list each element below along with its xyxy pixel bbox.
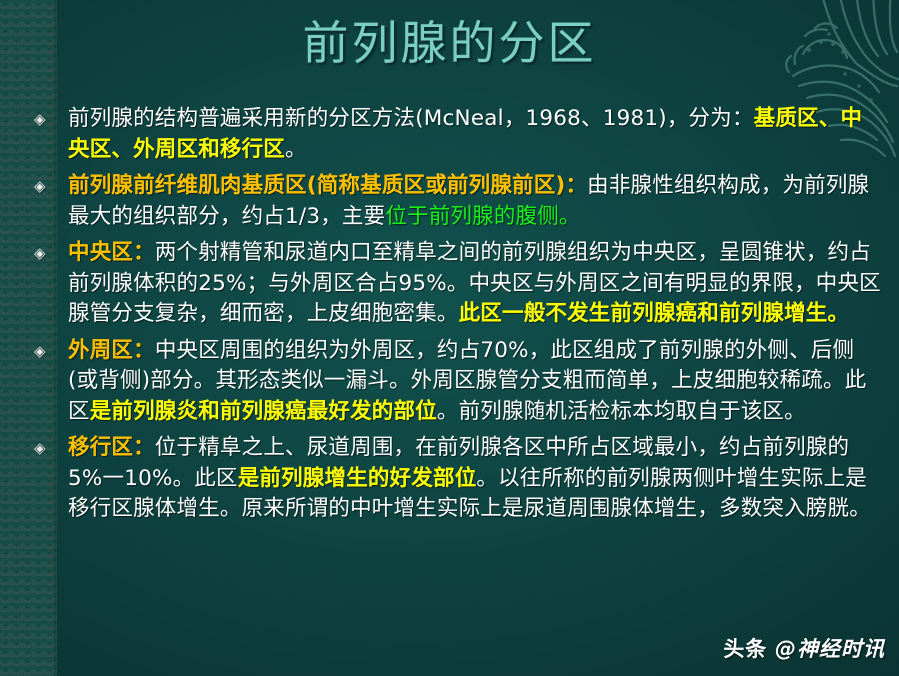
watermark-brand: 头条 — [723, 637, 767, 661]
bullet-diamond-icon: ◈ — [30, 171, 68, 203]
bullet-list: ◈ 前列腺的结构普遍采用新的分区方法(McNeal，1968、1981)，分为：… — [30, 104, 882, 531]
text-segment: 。前列腺随机活检标本均取自于该区。 — [437, 399, 806, 424]
text-segment-heading: 外周区： — [68, 338, 155, 363]
list-item: ◈ 前列腺的结构普遍采用新的分区方法(McNeal，1968、1981)，分为：… — [30, 104, 882, 165]
list-item: ◈ 中央区：两个射精管和尿道内口至精阜之间的前列腺组织为中央区，呈圆锥状，约占前… — [30, 238, 882, 330]
text-segment-highlight: 位于前列腺的腹侧。 — [385, 204, 580, 229]
slide-canvas: 前列腺的分区 ◈ 前列腺的结构普遍采用新的分区方法(McNeal，1968、19… — [0, 0, 899, 676]
bullet-diamond-icon: ◈ — [30, 238, 68, 270]
text-segment: 。 — [285, 137, 307, 162]
list-item: ◈ 前列腺前纤维肌肉基质区(简称基质区或前列腺前区)：由非腺性组织构成，为前列腺… — [30, 171, 882, 232]
bullet-text: 前列腺的结构普遍采用新的分区方法(McNeal，1968、1981)，分为：基质… — [68, 104, 882, 165]
page-title: 前列腺的分区 — [0, 16, 899, 70]
bullet-diamond-icon: ◈ — [30, 433, 68, 465]
text-segment-highlight: 是前列腺增生的好发部位 — [238, 466, 477, 491]
text-segment-highlight: 是前列腺炎和前列腺癌最好发的部位 — [90, 399, 437, 424]
bullet-text: 移行区：位于精阜之上、尿道周围，在前列腺各区中所占区域最小，约占前列腺的5%一1… — [68, 433, 882, 525]
list-item: ◈ 移行区：位于精阜之上、尿道周围，在前列腺各区中所占区域最小，约占前列腺的5%… — [30, 433, 882, 525]
text-segment-heading: 中央区： — [68, 240, 155, 265]
text-segment-highlight: 此区一般不发生前列腺癌和前列腺增生。 — [459, 301, 850, 326]
text-segment-heading: 移行区： — [68, 435, 155, 460]
text-segment-heading: 前列腺前纤维肌肉基质区(简称基质区或前列腺前区)： — [68, 173, 587, 198]
watermark-handle: @神经时讯 — [775, 637, 885, 661]
bullet-diamond-icon: ◈ — [30, 336, 68, 368]
bullet-text: 前列腺前纤维肌肉基质区(简称基质区或前列腺前区)：由非腺性组织构成，为前列腺最大… — [68, 171, 882, 232]
list-item: ◈ 外周区：中央区周围的组织为外周区，约占70%，此区组成了前列腺的外侧、后侧(… — [30, 336, 882, 428]
watermark: 头条 @神经时讯 — [723, 636, 885, 662]
bullet-text: 外周区：中央区周围的组织为外周区，约占70%，此区组成了前列腺的外侧、后侧(或背… — [68, 336, 882, 428]
bullet-text: 中央区：两个射精管和尿道内口至精阜之间的前列腺组织为中央区，呈圆锥状，约占前列腺… — [68, 238, 882, 330]
text-segment: 前列腺的结构普遍采用新的分区方法(McNeal，1968、1981)，分为： — [68, 106, 754, 131]
bullet-diamond-icon: ◈ — [30, 104, 68, 136]
